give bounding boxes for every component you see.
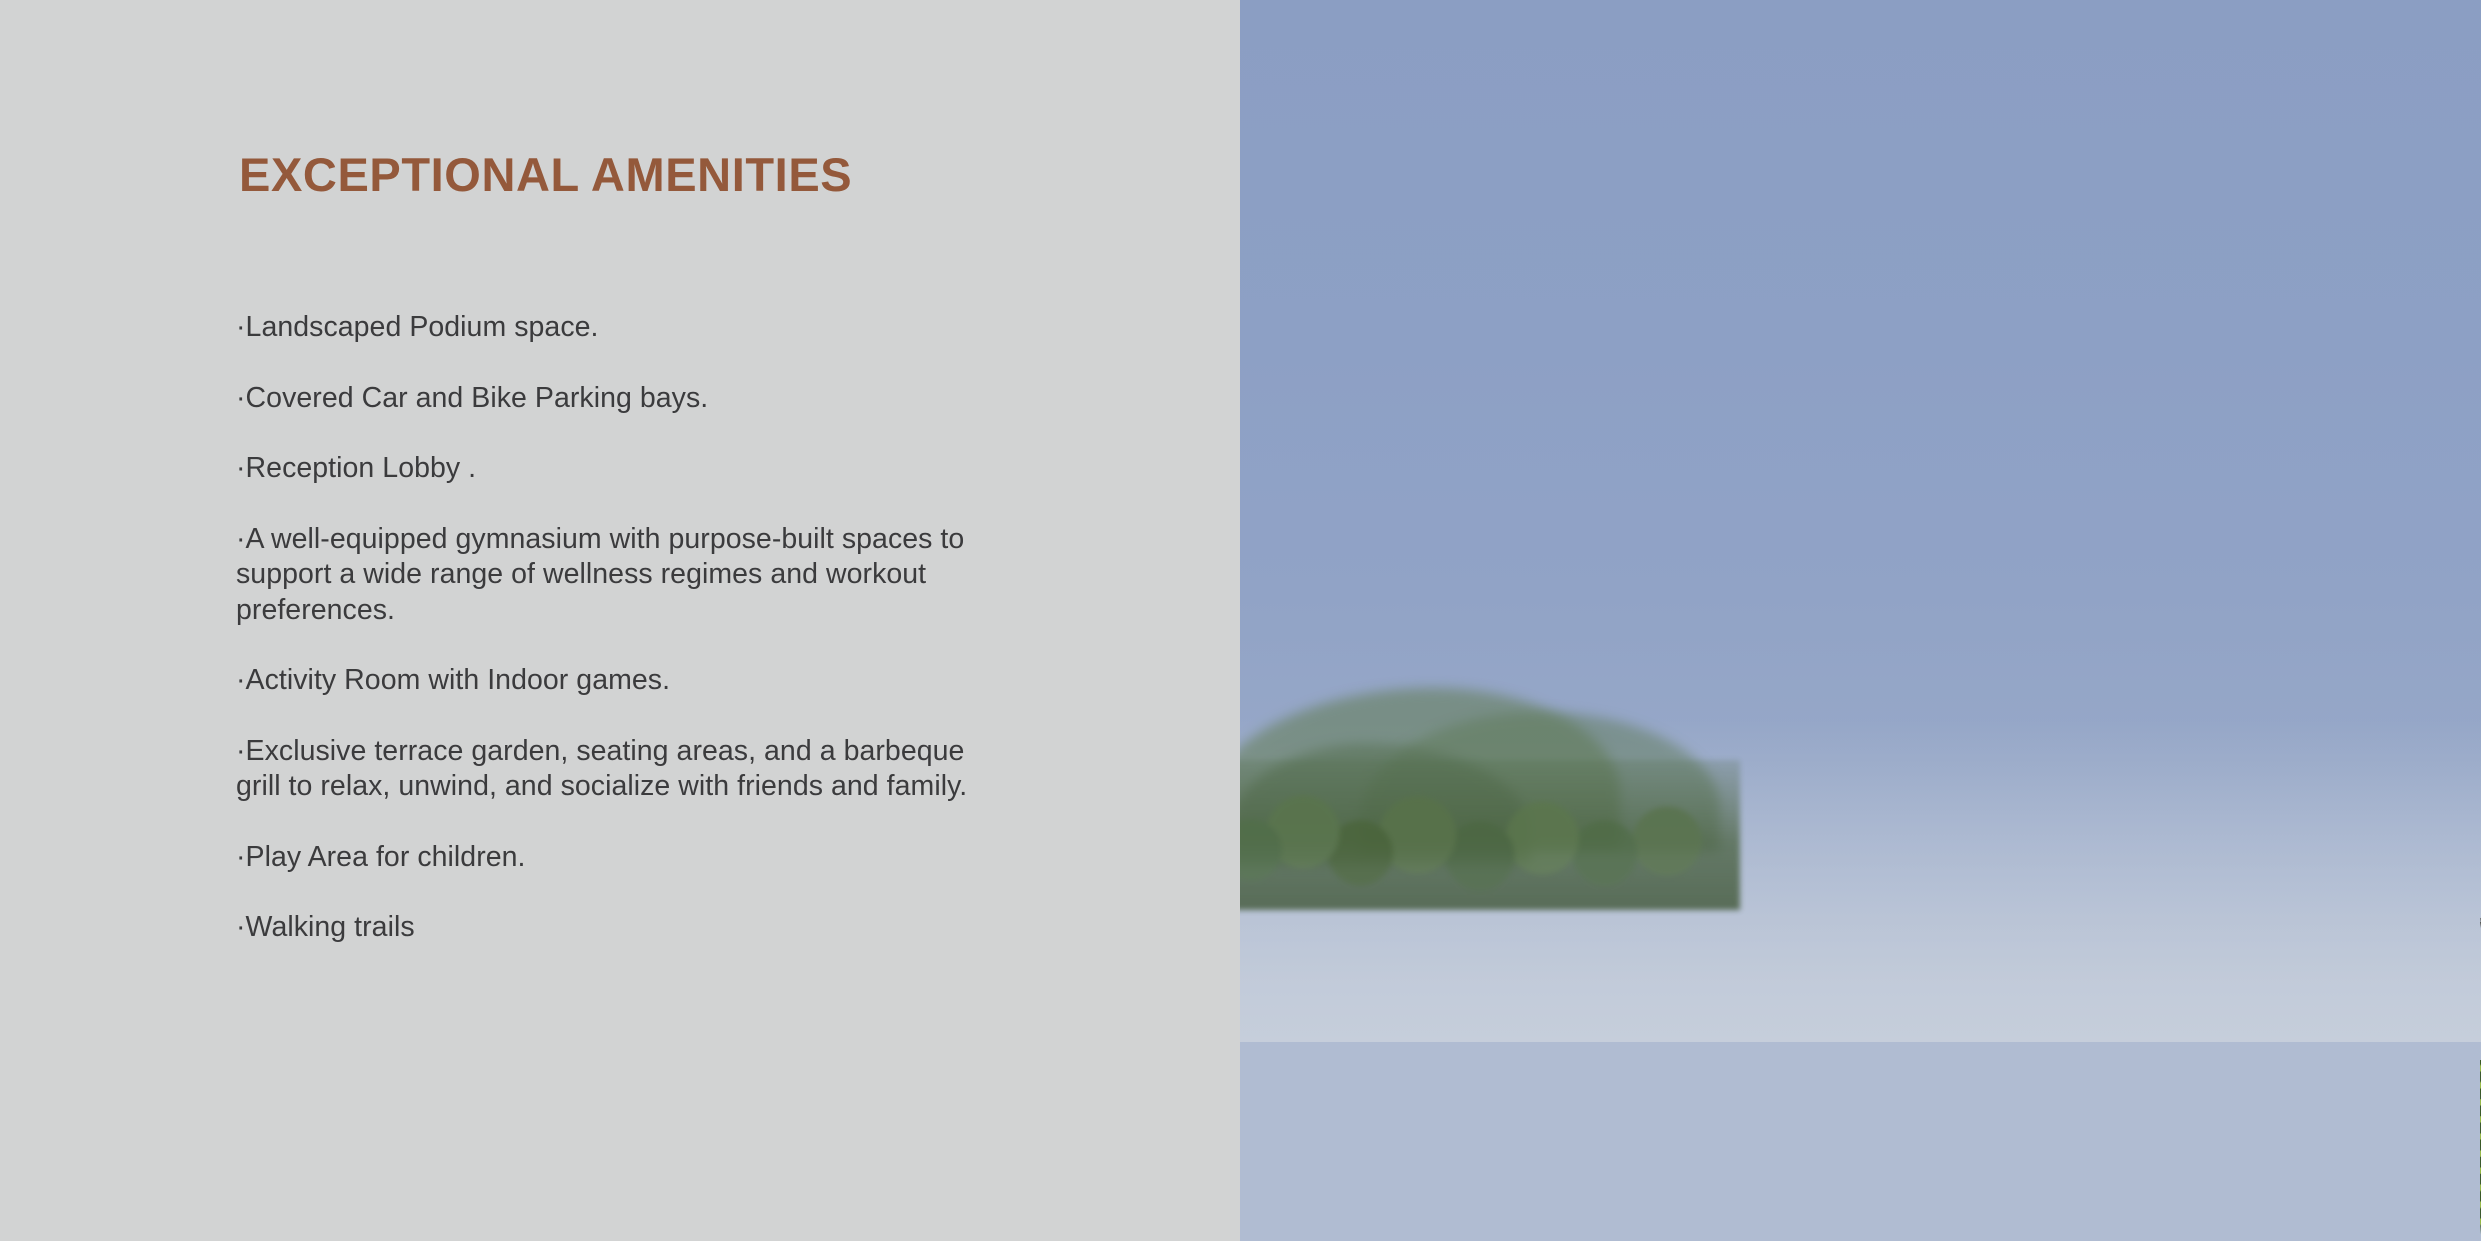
terrace-render-image xyxy=(1240,0,2481,1241)
list-item-text: Exclusive terrace garden, seating areas,… xyxy=(236,735,967,803)
list-item: ·Walking trails xyxy=(236,910,1006,946)
list-item: ·Covered Car and Bike Parking bays. xyxy=(236,381,1006,417)
distant-forest-canopy xyxy=(1240,760,1740,910)
bullet-icon: · xyxy=(236,311,246,343)
list-item-text: Play Area for children. xyxy=(246,841,526,873)
list-item: ·A well-equipped gymnasium with purpose-… xyxy=(236,522,1006,629)
list-item-text: Walking trails xyxy=(246,911,415,943)
bullet-icon: · xyxy=(236,452,246,484)
sky-background xyxy=(1240,0,2481,1241)
bullet-icon: · xyxy=(236,382,246,414)
bullet-icon: · xyxy=(236,664,246,696)
list-item-text: Covered Car and Bike Parking bays. xyxy=(246,382,709,414)
list-item: ·Landscaped Podium space. xyxy=(236,310,1006,346)
list-item: ·Activity Room with Indoor games. xyxy=(236,663,1006,699)
bullet-icon: · xyxy=(236,841,246,873)
list-item-text: A well-equipped gymnasium with purpose-b… xyxy=(236,523,964,626)
bullet-icon: · xyxy=(236,523,246,555)
list-item: ·Reception Lobby . xyxy=(236,451,1006,487)
list-item-text: Activity Room with Indoor games. xyxy=(246,664,671,696)
page-title: EXCEPTIONAL AMENITIES xyxy=(239,147,852,202)
list-item-text: Landscaped Podium space. xyxy=(246,311,599,343)
list-item: ·Exclusive terrace garden, seating areas… xyxy=(236,734,1006,805)
list-item: ·Play Area for children. xyxy=(236,840,1006,876)
amenities-list: ·Landscaped Podium space. ·Covered Car a… xyxy=(236,310,1026,946)
slide-canvas: EXCEPTIONAL AMENITIES ·Landscaped Podium… xyxy=(0,0,2481,1241)
bullet-icon: · xyxy=(236,911,246,943)
list-item-text: Reception Lobby . xyxy=(246,452,477,484)
text-panel: EXCEPTIONAL AMENITIES ·Landscaped Podium… xyxy=(0,0,1240,1241)
bullet-icon: · xyxy=(236,735,246,767)
